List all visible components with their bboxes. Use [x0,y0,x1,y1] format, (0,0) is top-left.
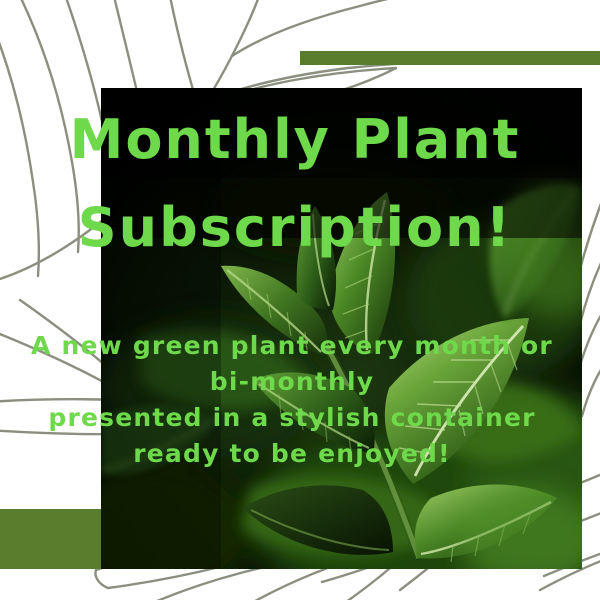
poster-canvas: Monthly Plant Subscription! A new green … [0,0,600,600]
green-leaves-photo [101,88,582,569]
top-accent-bar [300,51,600,65]
